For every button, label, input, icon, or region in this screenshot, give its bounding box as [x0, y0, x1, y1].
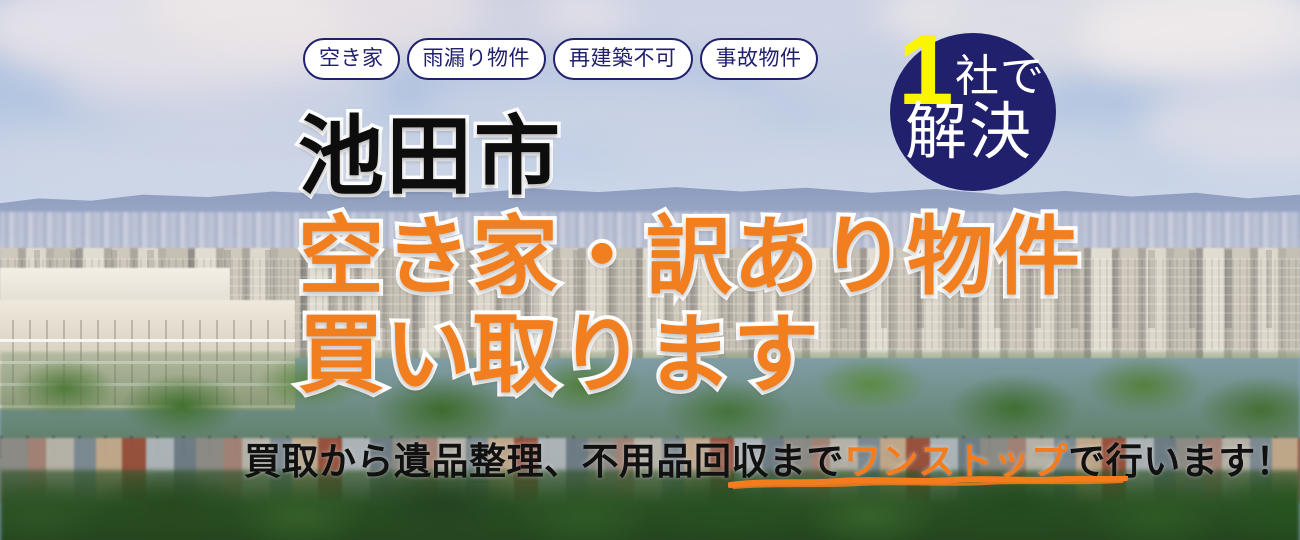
- tag-akiya[interactable]: 空き家: [303, 38, 400, 80]
- hero-banner: 空き家 雨漏り物件 再建築不可 事故物件 1 社で 解決 池田市 空き家・訳あり…: [0, 0, 1300, 540]
- badge-text-line-1: 社で: [955, 55, 1045, 99]
- tag-jiko-bukken[interactable]: 事故物件: [700, 38, 818, 80]
- tag-amamori[interactable]: 雨漏り物件: [407, 38, 547, 80]
- headline-line-2: 買い取ります: [298, 312, 1081, 398]
- tag-saikenchiku[interactable]: 再建築不可: [553, 38, 693, 80]
- property-type-tag-list: 空き家 雨漏り物件 再建築不可 事故物件: [303, 38, 818, 80]
- headline-block: 池田市 空き家・訳あり物件 買い取ります: [298, 114, 1081, 398]
- headline-line-1: 空き家・訳あり物件: [298, 214, 1081, 300]
- subtitle-line: 買取から遺品整理、不用品回収までワンストップで行います！: [244, 443, 1293, 480]
- headline-city-name: 池田市: [298, 114, 1081, 200]
- brush-underline-icon: [728, 476, 1128, 490]
